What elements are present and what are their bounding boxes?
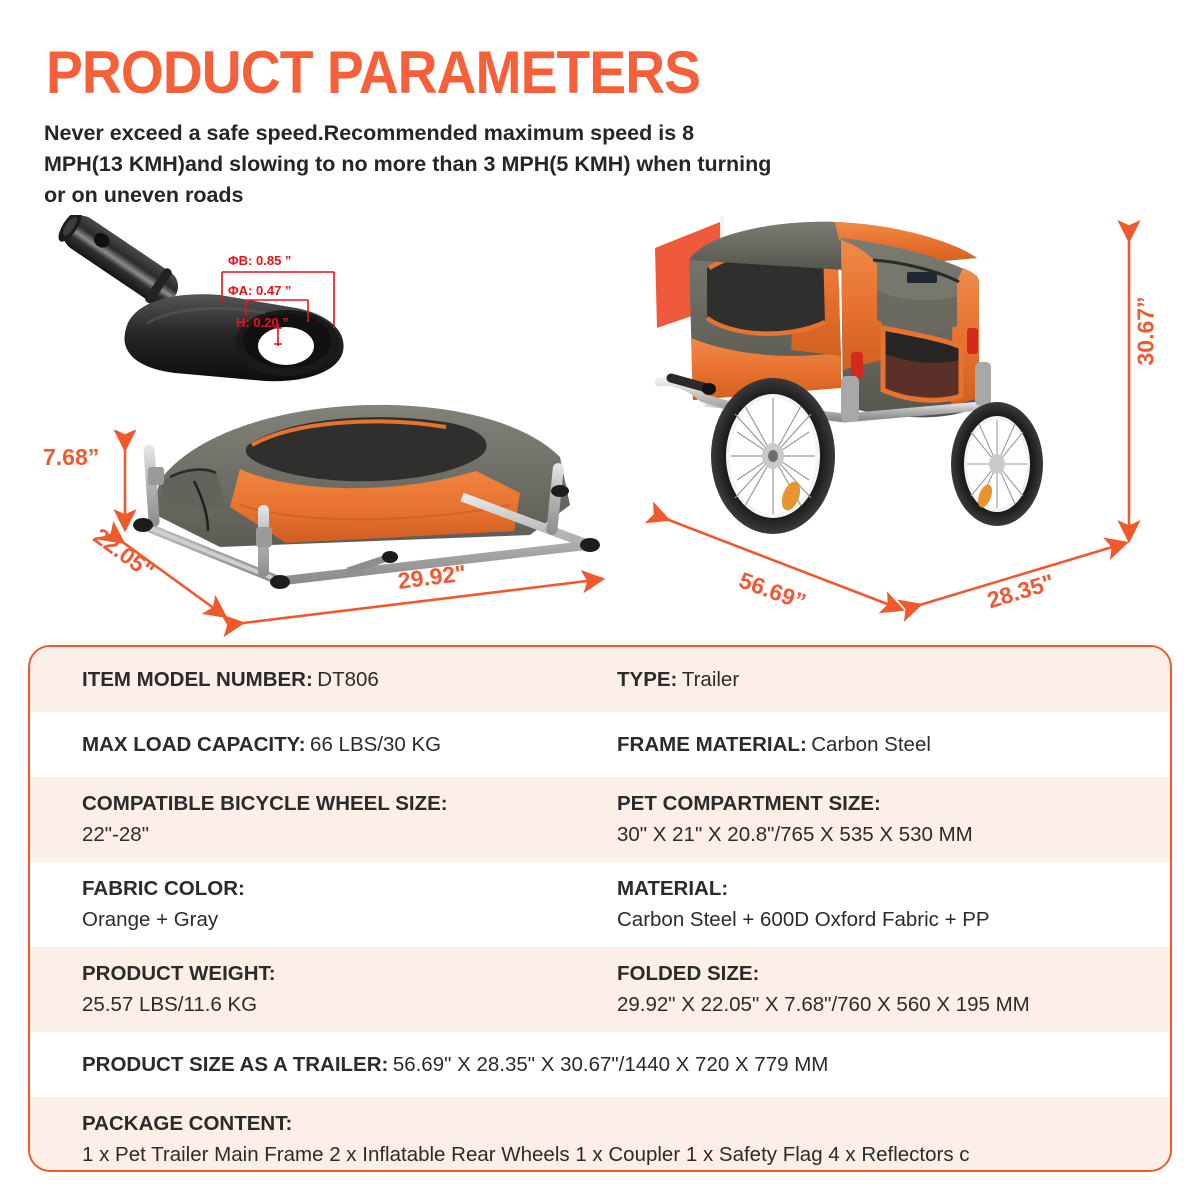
spec-cell-folded-size: FOLDED SIZE: 29.92" X 22.05" X 7.68"/760… <box>582 962 1170 1017</box>
spec-cell-type: TYPE: Trailer <box>582 668 1170 692</box>
spec-cell-product-weight: PRODUCT WEIGHT: 25.57 LBS/11.6 KG <box>30 962 582 1017</box>
package-content-line2: 2 x Wheel Axles 1 x Towing Bar 4 x Screw… <box>82 1171 1170 1173</box>
product-parameters-page: PRODUCT PARAMETERS Never exceed a safe s… <box>0 0 1200 1200</box>
spec-row-max-load: MAX LOAD CAPACITY: 66 LBS/30 KG FRAME MA… <box>30 712 1170 777</box>
spec-row-trailer-size: PRODUCT SIZE AS A TRAILER: 56.69" X 28.3… <box>30 1032 1170 1097</box>
spec-label: FABRIC COLOR: <box>82 877 582 901</box>
spec-label: FRAME MATERIAL: <box>617 733 807 756</box>
spec-cell-frame-material: FRAME MATERIAL: Carbon Steel <box>582 733 1170 757</box>
trailer-height-label: 30.67” <box>1133 296 1160 365</box>
coupler-phib-label: ΦB: 0.85 ” <box>228 253 291 268</box>
spec-row-item-model: ITEM MODEL NUMBER: DT806 TYPE: Trailer <box>30 647 1170 712</box>
spec-value: Orange + Gray <box>82 908 582 932</box>
spec-cell-max-load: MAX LOAD CAPACITY: 66 LBS/30 KG <box>30 733 582 757</box>
spec-row-wheel-size: COMPATIBLE BICYCLE WHEEL SIZE: 22"-28" P… <box>30 777 1170 862</box>
spec-row-fabric-color: FABRIC COLOR: Orange + Gray MATERIAL: Ca… <box>30 862 1170 947</box>
spec-label: MATERIAL: <box>617 877 1170 901</box>
spec-cell-package-content: PACKAGE CONTENT: 1 x Pet Trailer Main Fr… <box>30 1112 1170 1173</box>
spec-value: Carbon Steel <box>811 733 931 756</box>
trailer-dimension-arrows <box>645 215 1185 635</box>
coupler-h-label: H: 0.20 ” <box>236 315 289 330</box>
spec-label: PET COMPARTMENT SIZE: <box>617 792 1170 816</box>
spec-value: 56.69" X 28.35" X 30.67"/1440 X 720 X 77… <box>393 1053 829 1076</box>
spec-value: Trailer <box>682 668 739 691</box>
spec-value: 25.57 LBS/11.6 KG <box>82 993 582 1017</box>
spec-value: 66 LBS/30 KG <box>310 733 441 756</box>
spec-label: FOLDED SIZE: <box>617 962 1170 986</box>
spec-label: PRODUCT WEIGHT: <box>82 962 582 986</box>
spec-cell-trailer-size: PRODUCT SIZE AS A TRAILER: 56.69" X 28.3… <box>30 1053 1170 1077</box>
spec-cell-item-model: ITEM MODEL NUMBER: DT806 <box>30 668 582 692</box>
spec-label: COMPATIBLE BICYCLE WHEEL SIZE: <box>82 792 582 816</box>
spec-value: Carbon Steel + 600D Oxford Fabric + PP <box>617 908 1170 932</box>
spec-cell-material: MATERIAL: Carbon Steel + 600D Oxford Fab… <box>582 877 1170 932</box>
spec-label: TYPE: <box>617 668 677 691</box>
spec-label: MAX LOAD CAPACITY: <box>82 733 306 756</box>
package-content-line1: 1 x Pet Trailer Main Frame 2 x Inflatabl… <box>82 1143 1170 1167</box>
spec-label: ITEM MODEL NUMBER: <box>82 668 313 691</box>
spec-label: PACKAGE CONTENT: <box>82 1112 1170 1136</box>
spec-value: 30" X 21" X 20.8"/765 X 535 X 530 MM <box>617 823 1170 847</box>
spec-row-package-content: PACKAGE CONTENT: 1 x Pet Trailer Main Fr… <box>30 1097 1170 1172</box>
spec-cell-compartment-size: PET COMPARTMENT SIZE: 30" X 21" X 20.8"/… <box>582 792 1170 847</box>
spec-value: DT806 <box>317 668 379 691</box>
spec-value: 29.92" X 22.05" X 7.68"/760 X 560 X 195 … <box>617 993 1170 1017</box>
specification-table: ITEM MODEL NUMBER: DT806 TYPE: Trailer M… <box>28 645 1172 1172</box>
spec-cell-wheel-size: COMPATIBLE BICYCLE WHEEL SIZE: 22"-28" <box>30 792 582 847</box>
spec-label: PRODUCT SIZE AS A TRAILER: <box>82 1053 388 1076</box>
folded-height-label: 7.68” <box>43 444 99 471</box>
product-illustrations: ΦB: 0.85 ” ΦA: 0.47 ” H: 0.20 ” <box>0 0 1200 640</box>
spec-row-product-weight: PRODUCT WEIGHT: 25.57 LBS/11.6 KG FOLDED… <box>30 947 1170 1032</box>
spec-cell-fabric-color: FABRIC COLOR: Orange + Gray <box>30 877 582 932</box>
spec-value: 22"-28" <box>82 823 582 847</box>
coupler-phia-label: ΦA: 0.47 ” <box>228 283 291 298</box>
